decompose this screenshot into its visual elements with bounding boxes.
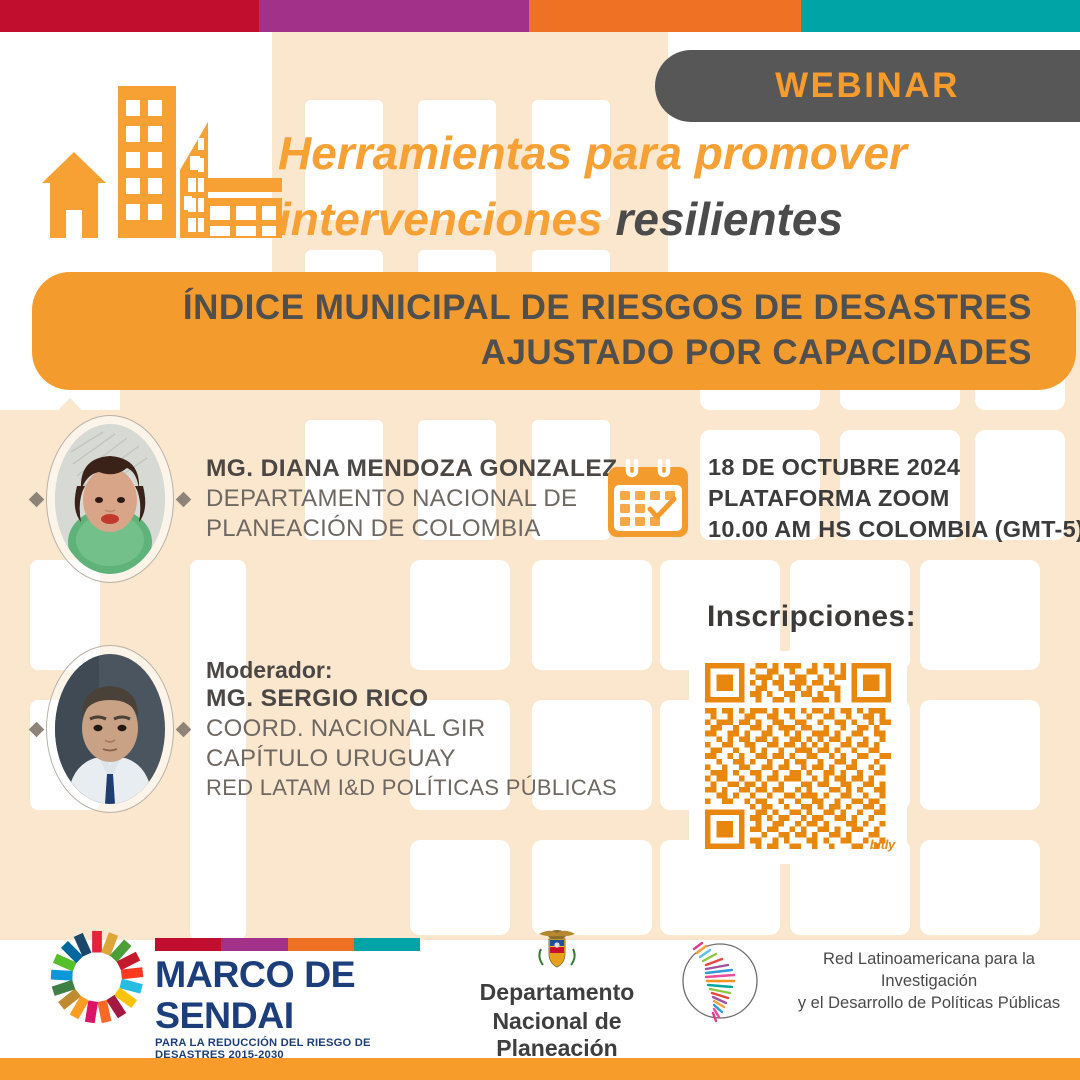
headline-line2-orange: intervenciones [278, 193, 615, 245]
moderator-label: Moderador: [206, 656, 617, 684]
banner-line1: ÍNDICE MUNICIPAL DE RIESGOS DE DESASTRES [92, 286, 1032, 331]
event-platform: PLATAFORMA ZOOM [708, 483, 1080, 514]
cityscape-icon [38, 78, 294, 260]
speaker-block-2: Moderador: MG. SERGIO RICO COORD. NACION… [46, 645, 617, 813]
topbar-segment-magenta [259, 0, 529, 32]
speaker-block-1: MG. DIANA MENDOZA GONZALEZ DEPARTAMENTO … [46, 415, 617, 583]
event-detail-lines: 18 DE OCTUBRE 2024 PLATAFORMA ZOOM 10.00… [708, 452, 1080, 545]
webinar-poster: WEBINAR [0, 0, 1080, 1080]
headline-line2: intervenciones resilientes [278, 194, 1068, 246]
top-color-bar [0, 0, 1080, 32]
qr-bitly-watermark: bitly [870, 837, 895, 852]
topbar-segment-red [0, 0, 259, 32]
qr-code[interactable]: bitly [689, 651, 907, 864]
topbar-segment-teal [801, 0, 1080, 32]
speaker-role-1-line1: DEPARTAMENTO NACIONAL DE [206, 484, 617, 514]
qr-code-image[interactable] [705, 663, 891, 849]
speaker-name-2: MG. SERGIO RICO [206, 684, 617, 714]
speaker-text-2: Moderador: MG. SERGIO RICO COORD. NACION… [206, 656, 617, 802]
speaker-role-2-line3: RED LATAM I&D POLÍTICAS PÚBLICAS [206, 774, 617, 802]
avatar-2 [55, 654, 165, 804]
webinar-badge: WEBINAR [655, 50, 1080, 122]
headline-line1: Herramientas para promover [278, 128, 1068, 180]
headline-line2-gray: resilientes [615, 193, 843, 245]
banner-line2: AJUSTADO POR CAPACIDADES [92, 331, 1032, 376]
speaker-text-1: MG. DIANA MENDOZA GONZALEZ DEPARTAMENTO … [206, 454, 617, 544]
accent-diamond-right-1 [176, 492, 192, 508]
speaker-photo-frame-2 [46, 645, 174, 813]
webinar-badge-label: WEBINAR [775, 66, 960, 106]
event-date: 18 DE OCTUBRE 2024 [708, 452, 1080, 483]
accent-diamond-right-2 [176, 722, 192, 738]
event-details: 18 DE OCTUBRE 2024 PLATAFORMA ZOOM 10.00… [604, 452, 1080, 545]
speaker-name-1: MG. DIANA MENDOZA GONZALEZ [206, 454, 617, 484]
bottom-orange-bar [0, 1058, 1080, 1080]
event-time: 10.00 AM HS COLOMBIA (GMT-5) [708, 514, 1080, 545]
calendar-icon [604, 457, 692, 541]
speaker-role-2-line2: CAPÍTULO URUGUAY [206, 744, 617, 774]
footer-logos [0, 920, 1080, 1040]
headline: Herramientas para promover intervencione… [278, 128, 1068, 245]
avatar-1 [55, 424, 165, 574]
speaker-role-2-line1: COORD. NACIONAL GIR [206, 714, 617, 744]
registration-label: Inscripciones: [707, 600, 916, 634]
title-banner: ÍNDICE MUNICIPAL DE RIESGOS DE DESASTRES… [32, 272, 1076, 390]
topbar-segment-orange [529, 0, 801, 32]
speaker-role-1-line2: PLANEACIÓN DE COLOMBIA [206, 514, 617, 544]
speaker-photo-frame-1 [46, 415, 174, 583]
